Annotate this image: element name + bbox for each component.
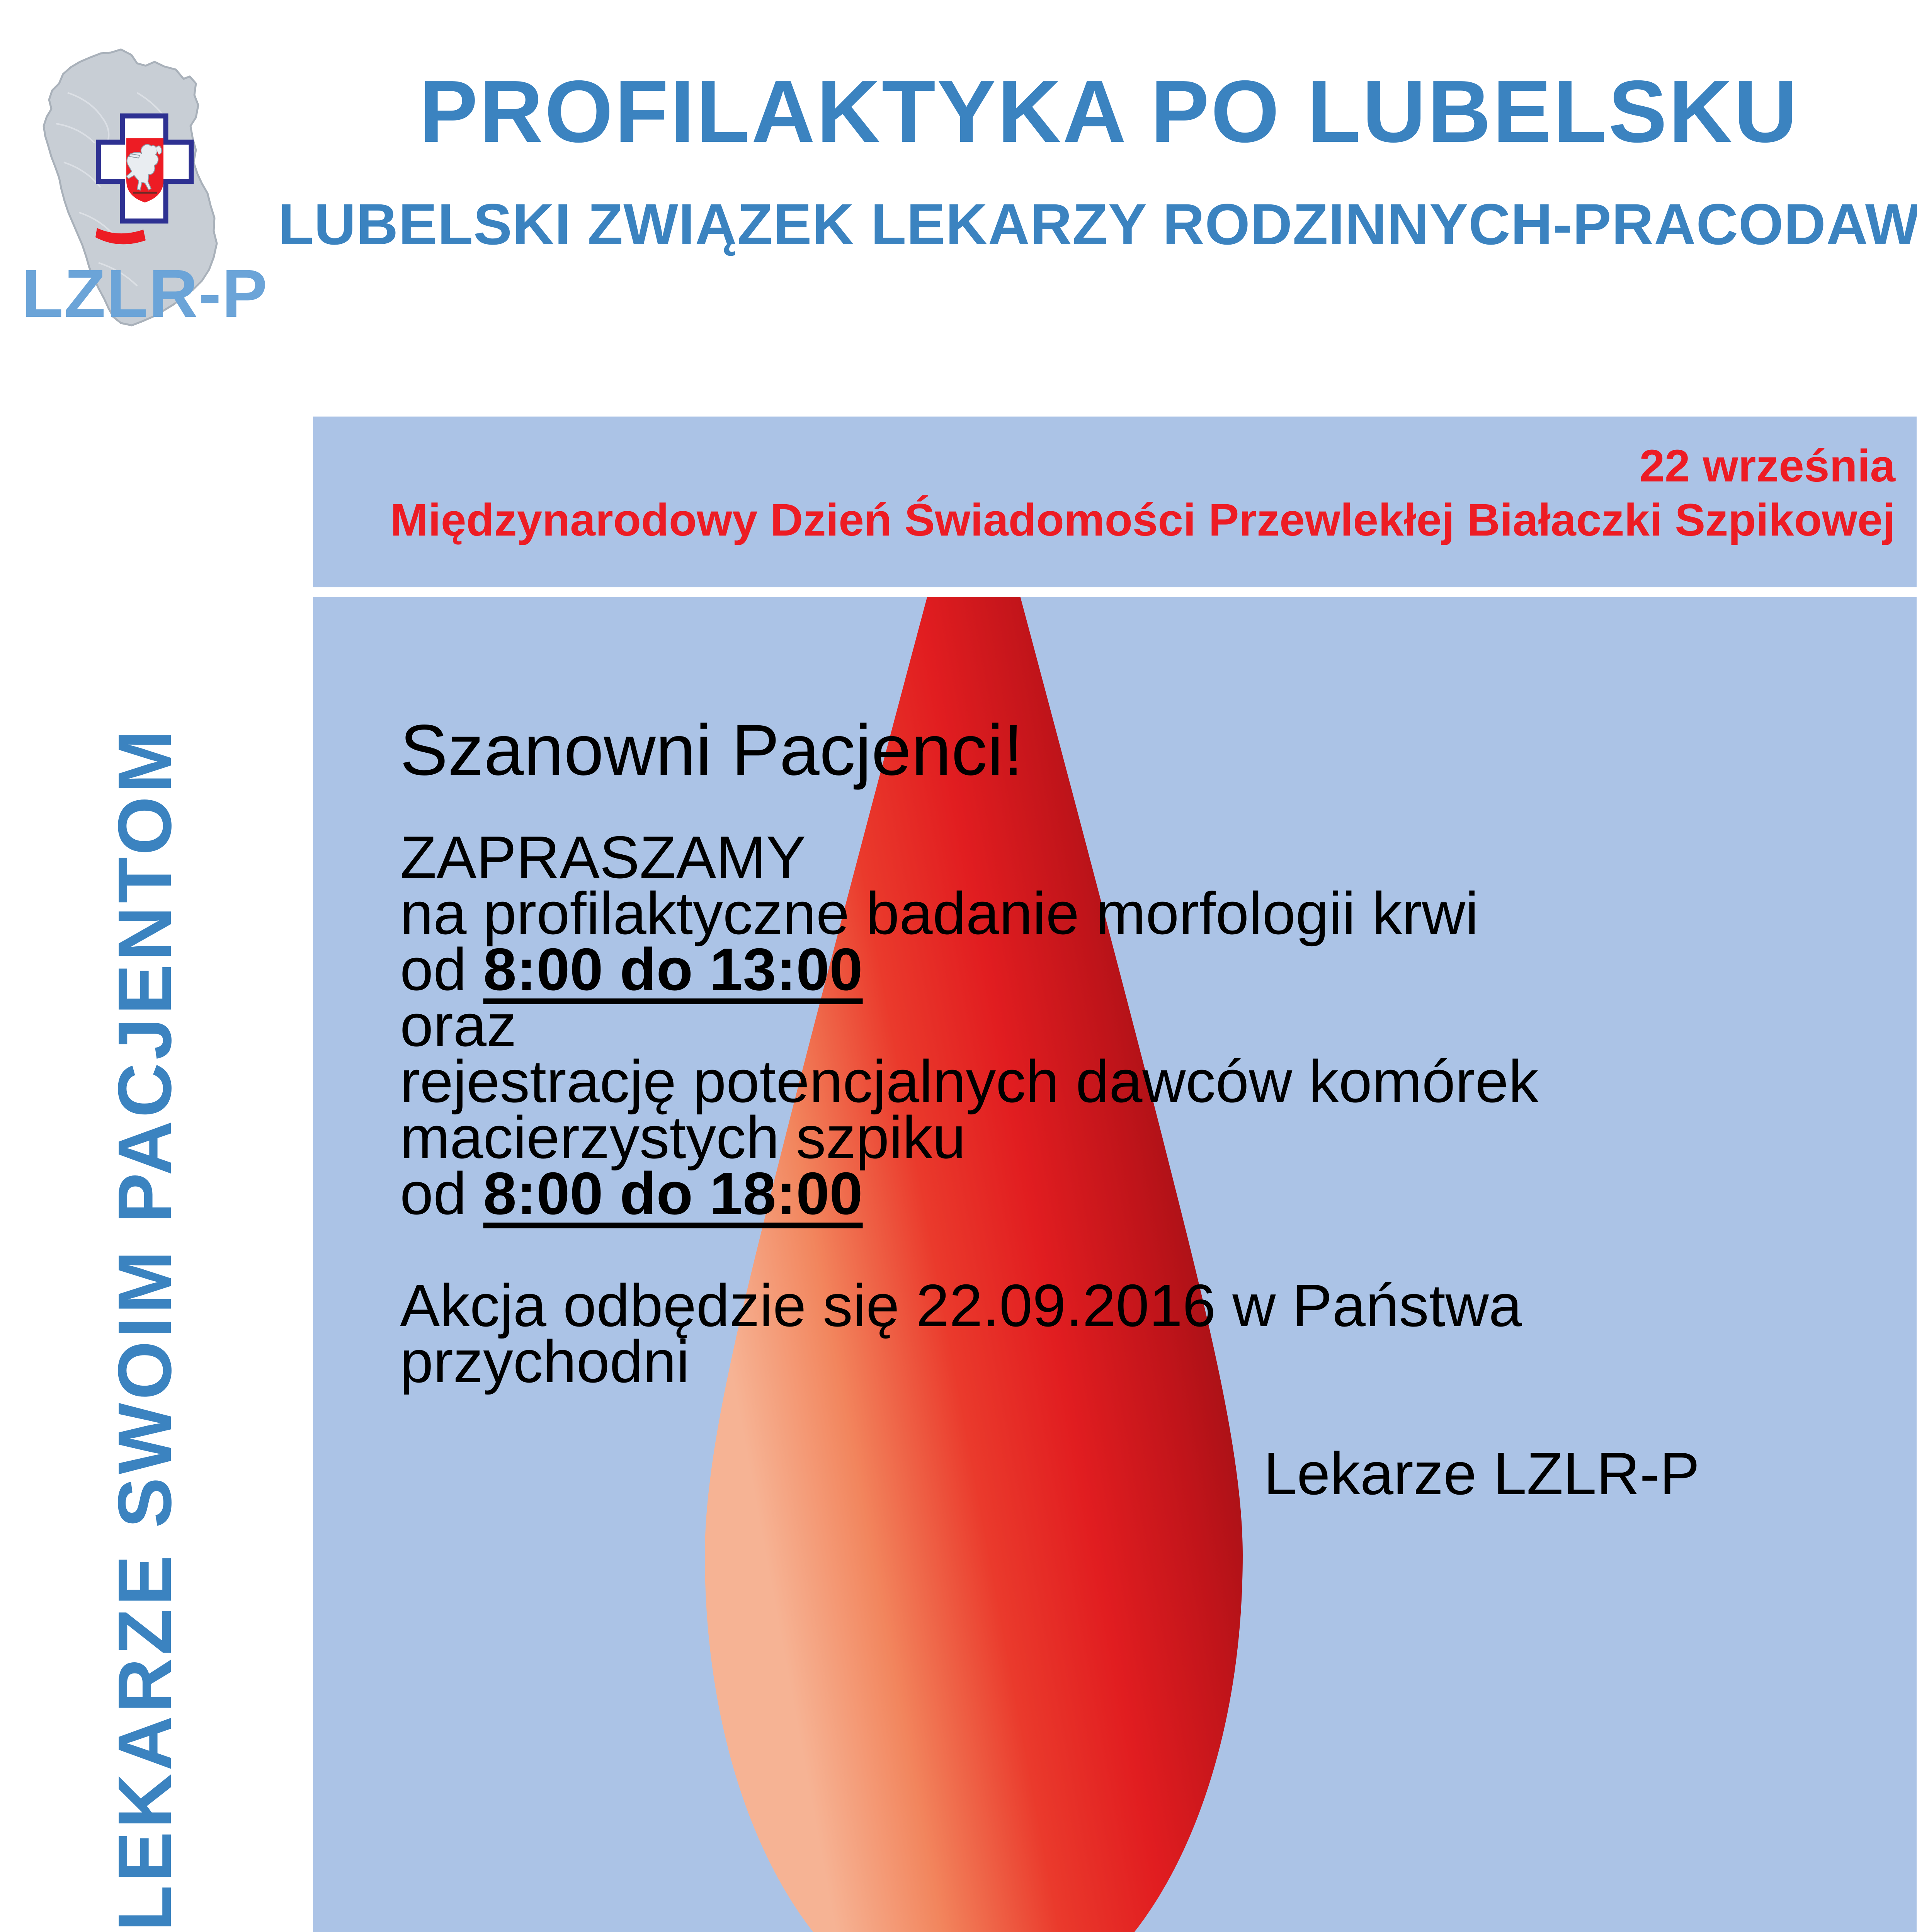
poster-header: LZLR-P PROFILAKTYKA PO LUBELSKU LUBELSKI…	[0, 0, 1917, 394]
register-hours-line: od 8:00 do 18:00	[400, 1159, 863, 1228]
main-content-box: Szanowni Pacjenci! ZAPRASZAMY na profila…	[313, 597, 1917, 1932]
sidebar-vertical-slogan: LEKARZE SWOIM PACJENTOM	[87, 469, 203, 1932]
greeting-heading: Szanowni Pacjenci!	[400, 709, 1023, 791]
register-hours-prefix: od	[400, 1160, 483, 1227]
lzlrp-logo: LZLR-P	[21, 46, 269, 332]
page-subtitle: LUBELSKI ZWIĄZEK LEKARZY RODZINNYCH-PRAC…	[278, 195, 1901, 253]
banner-occasion: Międzynarodowy Dzień Świadomości Przewle…	[390, 494, 1895, 546]
main-body-text: Szanowni Pacjenci! ZAPRASZAMY na profila…	[313, 597, 1917, 1932]
banner-date: 22 września	[1640, 440, 1895, 492]
signature-line: Lekarze LZLR-P	[1264, 1439, 1700, 1508]
logo-acronym: LZLR-P	[22, 256, 268, 332]
exam-hours-value: 8:00 do 13:00	[483, 936, 862, 1003]
awareness-day-banner: 22 września Międzynarodowy Dzień Świadom…	[313, 417, 1917, 587]
event-when-line-2: przychodni	[400, 1327, 690, 1396]
lublin-coat-of-arms-shield	[126, 138, 163, 202]
page-title: PROFILAKTYKA PO LUBELSKU	[321, 68, 1897, 156]
register-hours-value: 8:00 do 18:00	[483, 1160, 862, 1227]
